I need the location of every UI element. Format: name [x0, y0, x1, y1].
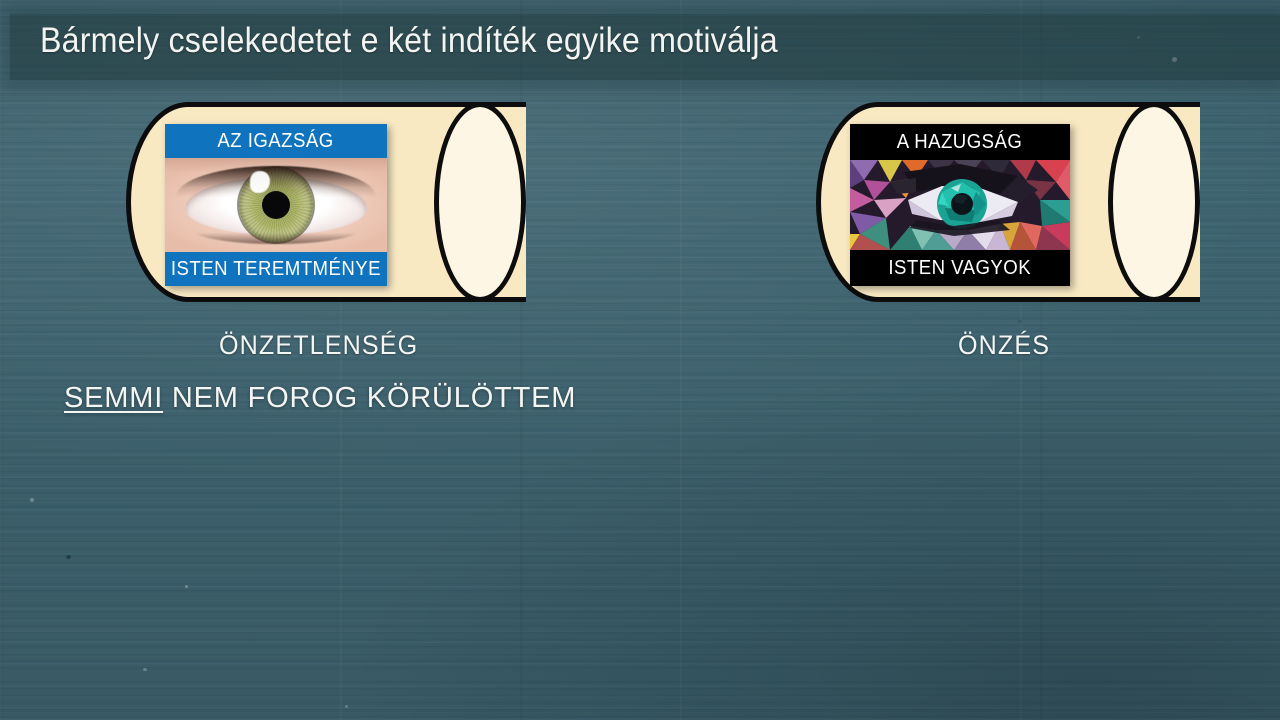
- image-footer-label-truth: ISTEN TEREMTMÉNYE: [171, 258, 381, 281]
- image-footer-truth: ISTEN TEREMTMÉNYE: [165, 252, 387, 286]
- caption-lie-label: ÖNZÉS: [958, 330, 1050, 361]
- image-header-lie: A HAZUGSÁG: [850, 124, 1070, 160]
- cylinder-lie: A HAZUGSÁG: [816, 102, 1200, 302]
- mosaic-eye-illustration: [850, 160, 1070, 250]
- image-card-truth: AZ IGAZSÁG ISTEN TEREMTMÉNYE: [165, 124, 387, 286]
- texture-speck: [185, 585, 188, 588]
- subtitle-rest: NEM FOROG KÖRÜLÖTTEM: [163, 382, 576, 414]
- page-title: Bármely cselekedetet e két indíték egyik…: [40, 18, 1126, 64]
- image-header-truth: AZ IGAZSÁG: [165, 124, 387, 158]
- cylinder-truth: AZ IGAZSÁG ISTEN TEREMTMÉNYE: [126, 102, 526, 302]
- image-header-label-truth: AZ IGAZSÁG: [218, 130, 334, 153]
- texture-speck: [1018, 320, 1022, 323]
- cylinder-cap-truth: [434, 102, 526, 302]
- image-footer-lie: ISTEN VAGYOK: [850, 250, 1070, 286]
- slide-canvas: Bármely cselekedetet e két indíték egyik…: [0, 0, 1280, 720]
- texture-speck: [66, 555, 71, 559]
- image-card-lie: A HAZUGSÁG: [850, 124, 1070, 286]
- image-header-label-lie: A HAZUGSÁG: [897, 131, 1023, 154]
- realistic-eye-illustration: [165, 158, 387, 252]
- image-footer-label-lie: ISTEN VAGYOK: [889, 257, 1032, 280]
- texture-speck: [345, 705, 348, 708]
- texture-speck: [30, 498, 34, 502]
- subtitle-emphasis: SEMMI: [64, 382, 163, 414]
- eye-photo-truth: [165, 158, 387, 252]
- caption-truth: ÖNZETLENSÉG: [126, 330, 526, 361]
- subtitle-truth: SEMMI NEM FOROG KÖRÜLÖTTEM: [64, 382, 576, 415]
- texture-speck: [143, 668, 147, 671]
- cylinder-cap-lie: [1108, 102, 1200, 302]
- eye-photo-lie: [850, 160, 1070, 250]
- caption-truth-label: ÖNZETLENSÉG: [219, 330, 418, 361]
- caption-lie: ÖNZÉS: [816, 330, 1200, 361]
